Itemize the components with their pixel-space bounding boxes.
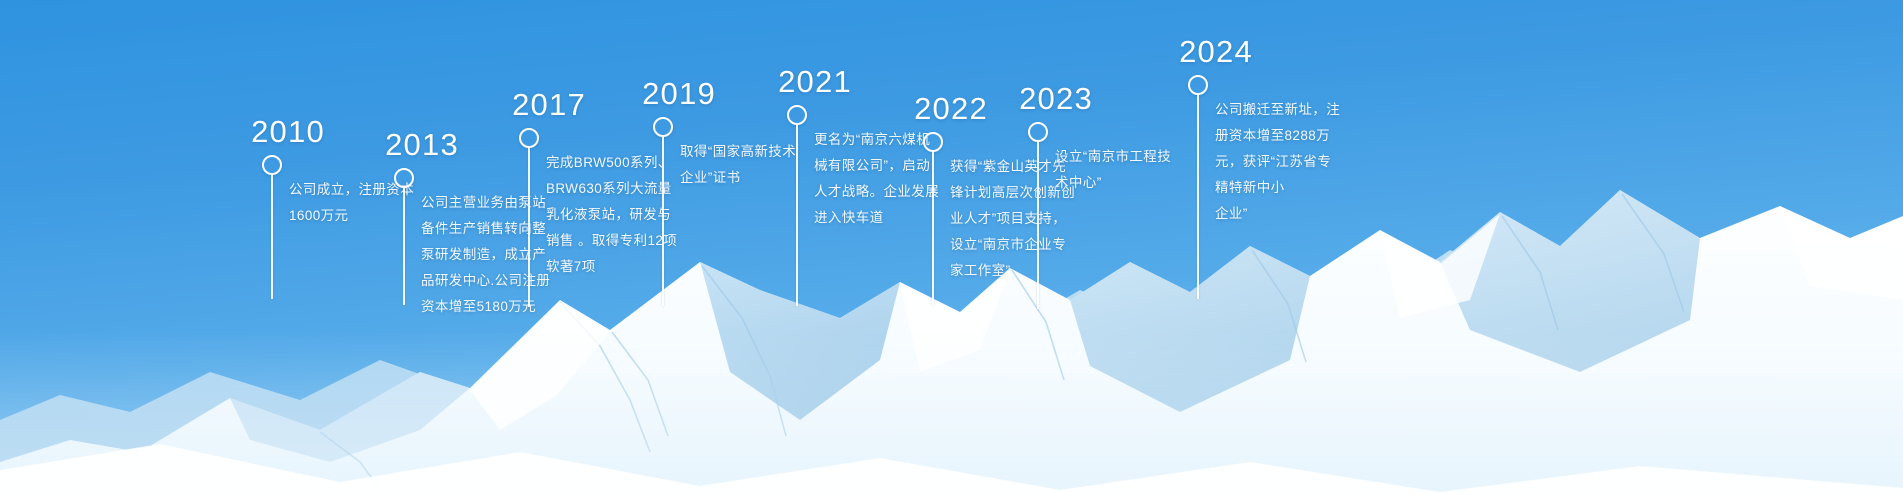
timeline-marker-icon: [1188, 75, 1208, 95]
timeline-description-2019: 取得“国家高新技术 企业”证书: [680, 139, 820, 191]
timeline-year-2019: 2019: [642, 78, 716, 109]
timeline-stem: [796, 124, 798, 306]
timeline-track: 2010 公司成立，注册资本 1600万元 2013 公司主营业务由泵站 备件生…: [0, 0, 1903, 495]
timeline-stem: [403, 187, 405, 305]
timeline-stem: [1197, 94, 1199, 299]
timeline-graphic: 2010 公司成立，注册资本 1600万元 2013 公司主营业务由泵站 备件生…: [0, 0, 1903, 495]
timeline-year-2023: 2023: [1019, 83, 1093, 114]
timeline-description-2017: 完成BRW500系列、 BRW630系列大流量 乳化液泵站，研发与 销售 。取得…: [546, 150, 698, 280]
timeline-stem: [271, 174, 273, 299]
timeline-marker-icon: [262, 155, 282, 175]
timeline-marker-icon: [1028, 122, 1048, 142]
timeline-description-2023: 设立“南京市工程技 术中心”: [1055, 144, 1203, 196]
timeline-description-2010: 公司成立，注册资本 1600万元: [289, 177, 434, 229]
timeline-year-2010: 2010: [251, 116, 325, 147]
timeline-stem: [932, 151, 934, 306]
timeline-marker-icon: [519, 128, 539, 148]
timeline-year-2013: 2013: [385, 129, 459, 160]
timeline-year-2022: 2022: [914, 93, 988, 124]
timeline-year-2021: 2021: [778, 66, 852, 97]
timeline-marker-icon: [653, 117, 673, 137]
timeline-year-2024: 2024: [1179, 36, 1253, 67]
timeline-stem: [1037, 141, 1039, 309]
timeline-stem: [662, 136, 664, 306]
timeline-marker-icon: [787, 105, 807, 125]
timeline-year-2017: 2017: [512, 89, 586, 120]
timeline-description-2024: 公司搬迁至新址，注 册资本增至8288万 元，获评“江苏省专 精特新中小 企业”: [1215, 97, 1365, 227]
timeline-marker-icon: [394, 168, 414, 188]
timeline-stem: [528, 147, 530, 307]
timeline-marker-icon: [923, 132, 943, 152]
